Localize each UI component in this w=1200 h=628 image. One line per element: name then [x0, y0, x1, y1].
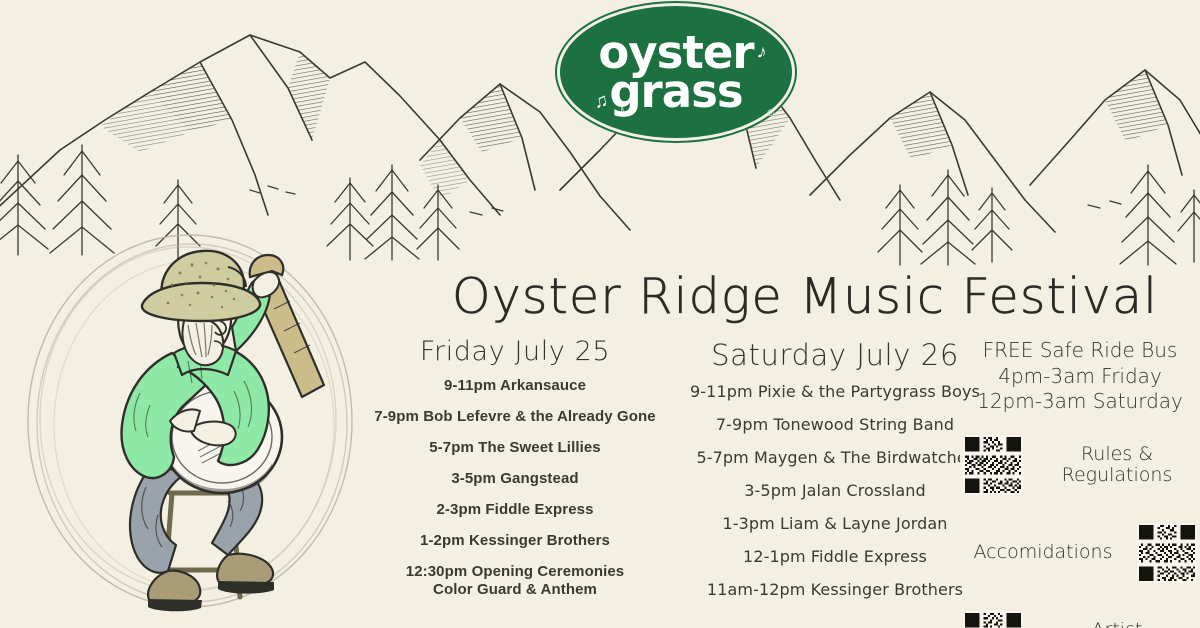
schedule-slot: 1-2pm Kessinger Brothers — [355, 532, 675, 549]
schedule-slot: 7-9pm Tonewood String Band — [680, 415, 990, 434]
schedule-slot-line2: Color Guard & Anthem — [355, 581, 675, 598]
accomidations-row[interactable]: Accomidations — [960, 515, 1200, 591]
schedule-slot: 9-11pm Arkansauce — [355, 377, 675, 394]
qr-code-icon[interactable] — [1134, 520, 1200, 586]
schedule-slot: 1-3pm Liam & Layne Jordan — [680, 514, 990, 533]
schedule-slot: 5-7pm Maygen & The Birdwatcher — [680, 448, 990, 467]
festival-poster: oyster grass ♪ ♫ ♪ ® — [0, 0, 1200, 628]
artist-lineup-label: Artist Lineup Info — [1034, 620, 1200, 628]
safe-ride-bus-line-3: 12pm-3am Saturday — [960, 389, 1200, 415]
schedule-slot: 3-5pm Jalan Crossland — [680, 481, 990, 500]
label-line-2: Regulations — [1062, 464, 1173, 486]
qr-code-icon[interactable] — [960, 432, 1026, 498]
saturday-schedule-column: Saturday July 26 9-11pm Pixie & the Part… — [680, 338, 990, 613]
accomidations-label: Accomidations — [960, 542, 1126, 563]
saturday-heading: Saturday July 26 — [680, 338, 990, 372]
rules-regulations-row[interactable]: Rules & Regulations — [960, 427, 1200, 503]
schedule-slot-line1: 12:30pm Opening Ceremonies — [406, 563, 625, 580]
logo-line-2: grass — [609, 71, 742, 112]
schedule-slot: 5-7pm The Sweet Lillies — [355, 439, 675, 456]
schedule-slot: 7-9pm Bob Lefevre & the Already Gone — [355, 408, 675, 425]
safe-ride-bus-line-2: 4pm-3am Friday — [960, 364, 1200, 390]
label-line-1: Rules & — [1081, 443, 1153, 465]
rules-regulations-label: Rules & Regulations — [1034, 444, 1200, 487]
schedule-slot: 2-3pm Fiddle Express — [355, 501, 675, 518]
artist-lineup-row[interactable]: Artist Lineup Info — [960, 603, 1200, 628]
friday-heading: Friday July 25 — [355, 336, 675, 367]
logo-wordmark: oyster grass — [560, 6, 792, 138]
friday-schedule-column: Friday July 25 9-11pm Arkansauce 7-9pm B… — [355, 336, 675, 612]
qr-code-icon[interactable] — [960, 608, 1026, 628]
schedule-slot: 12:30pm Opening Ceremonies Color Guard &… — [355, 563, 675, 598]
oystergrass-logo: oyster grass ♪ ♫ ♪ ® — [560, 6, 792, 138]
label-line-1: Artist — [1092, 619, 1143, 628]
banjo-player-illustration — [22, 225, 362, 625]
schedule-slot: 3-5pm Gangstead — [355, 470, 675, 487]
schedule-slot: 11am-12pm Kessinger Brothers — [680, 580, 990, 599]
registered-mark: ® — [767, 108, 774, 118]
page-title: Oyster Ridge Music Festival — [440, 268, 1170, 325]
safe-ride-bus-line-1: FREE Safe Ride Bus — [960, 338, 1200, 364]
schedule-slot: 9-11pm Pixie & the Partygrass Boys — [680, 382, 990, 401]
info-column: FREE Safe Ride Bus 4pm-3am Friday 12pm-3… — [960, 338, 1200, 628]
schedule-slot: 12-1pm Fiddle Express — [680, 547, 990, 566]
